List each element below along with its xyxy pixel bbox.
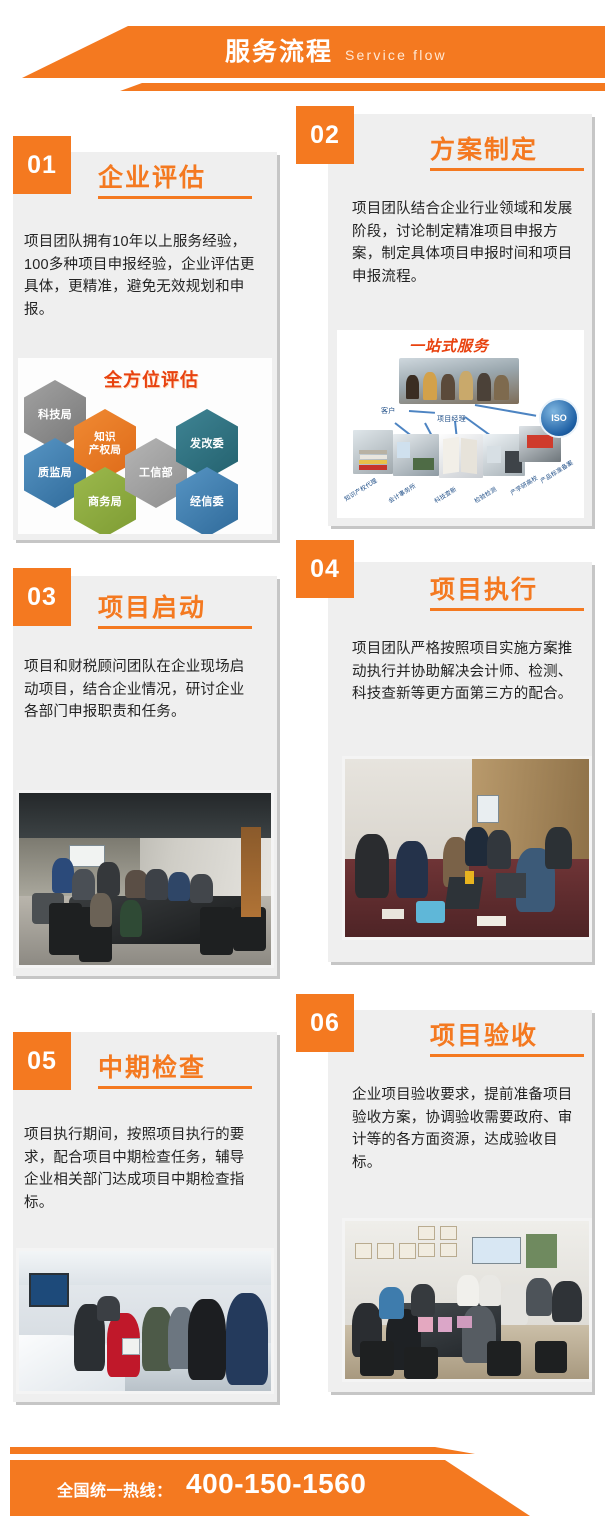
page-subtitle: Service flow (345, 43, 447, 67)
card-02-body: 项目团队结合企业行业领域和发展阶段，讨论制定精准项目申报方案，制定具体项目申报时… (352, 198, 582, 288)
service-node-label: 产学研高校 (508, 473, 539, 497)
card-06-number-badge: 06 (296, 994, 354, 1052)
service-node-label: 会计事务所 (386, 481, 417, 505)
hotline-number[interactable]: 400-150-1560 (186, 1468, 366, 1500)
hex-node-label: 工信部 (139, 467, 173, 480)
hex-node-label: 发改委 (190, 438, 224, 451)
card-03-number-badge: 03 (13, 568, 71, 626)
iso-badge: ISO (539, 398, 579, 438)
hex-node-label: 商务局 (88, 496, 122, 509)
photo-midterm-site-visit (16, 1248, 274, 1394)
card-06-title-rule (430, 1054, 584, 1057)
service-label-customer: 客户 (381, 406, 395, 416)
card-06-body: 企业项目验收要求，提前准备项目验收方案，协调验收需要政府、审计等的各方面资源，达… (352, 1084, 582, 1174)
card-02-title: 方案制定 (430, 130, 538, 166)
service-node-photo (353, 430, 393, 474)
card-04-body: 项目团队严格按照项目实施方案推动执行并协助解决会计师、检测、科技查新等更方面第三… (352, 638, 582, 706)
service-diagram-title: 一站式服务 (409, 335, 489, 356)
card-02-title-rule (430, 168, 584, 171)
hexagon-assessment-diagram: 全方位评估 科技局 质监局 知识 产权局 商务局 工信部 发改委 经信委 (18, 358, 272, 534)
photo-acceptance-meeting (342, 1218, 592, 1382)
card-01-number-badge: 01 (13, 136, 71, 194)
service-label-manager: 项目经理 (437, 414, 466, 424)
page-title: 服务流程 (225, 36, 333, 68)
card-03-title-rule (98, 626, 252, 629)
hex-node-label: 科技局 (38, 409, 72, 422)
footer-accent-line (10, 1447, 605, 1454)
hex-node-label: 知识 产权局 (89, 431, 121, 457)
card-03-title: 项目启动 (98, 588, 206, 624)
card-06-title: 项目验收 (430, 1016, 538, 1052)
service-node-label: 知识产权代理 (342, 476, 378, 503)
card-04-title-rule (430, 608, 584, 611)
service-arrow (409, 410, 435, 414)
card-04-number-badge: 04 (296, 540, 354, 598)
photo-execution-worksession (342, 756, 592, 940)
one-stop-service-diagram: 一站式服务 客户 项目经理 (337, 330, 584, 518)
service-node-label: 检验检测 (472, 484, 498, 505)
header-accent-line (0, 83, 605, 91)
card-03-body: 项目和财税顾问团队在企业现场启动项目，结合企业情况，研讨企业各部门申报职责和任务… (24, 656, 258, 724)
service-node-photo (439, 434, 483, 478)
service-node-label: 科技查新 (432, 484, 458, 505)
card-05-title-rule (98, 1086, 252, 1089)
service-flow-infographic: 服务流程 Service flow 01 企业评估 项目团队拥有10年以上服务经… (0, 0, 605, 1538)
card-05-number-badge: 05 (13, 1032, 71, 1090)
card-04-title: 项目执行 (430, 570, 538, 606)
card-02-number-badge: 02 (296, 106, 354, 164)
hotline-label: 全国统一热线： (57, 1477, 173, 1501)
service-hero-photo (399, 358, 519, 404)
card-01-body: 项目团队拥有10年以上服务经验，100多种项目申报经验，企业评估更具体，更精准，… (24, 231, 258, 321)
service-arrow (475, 404, 536, 417)
card-01-title-rule (98, 196, 252, 199)
card-05-body: 项目执行期间，按照项目执行的要求，配合项目中期检查任务，辅导企业相关部门达成项目… (24, 1124, 258, 1214)
hex-node-label: 质监局 (38, 467, 72, 480)
photo-kickoff-meeting (16, 790, 274, 968)
hex-node-label: 经信委 (190, 496, 224, 509)
card-05-title: 中期检查 (98, 1048, 206, 1084)
hexagon-diagram-title: 全方位评估 (104, 366, 199, 392)
service-node-photo (393, 434, 439, 476)
page-header: 服务流程 Service flow (0, 0, 605, 104)
card-01-title: 企业评估 (98, 158, 206, 194)
